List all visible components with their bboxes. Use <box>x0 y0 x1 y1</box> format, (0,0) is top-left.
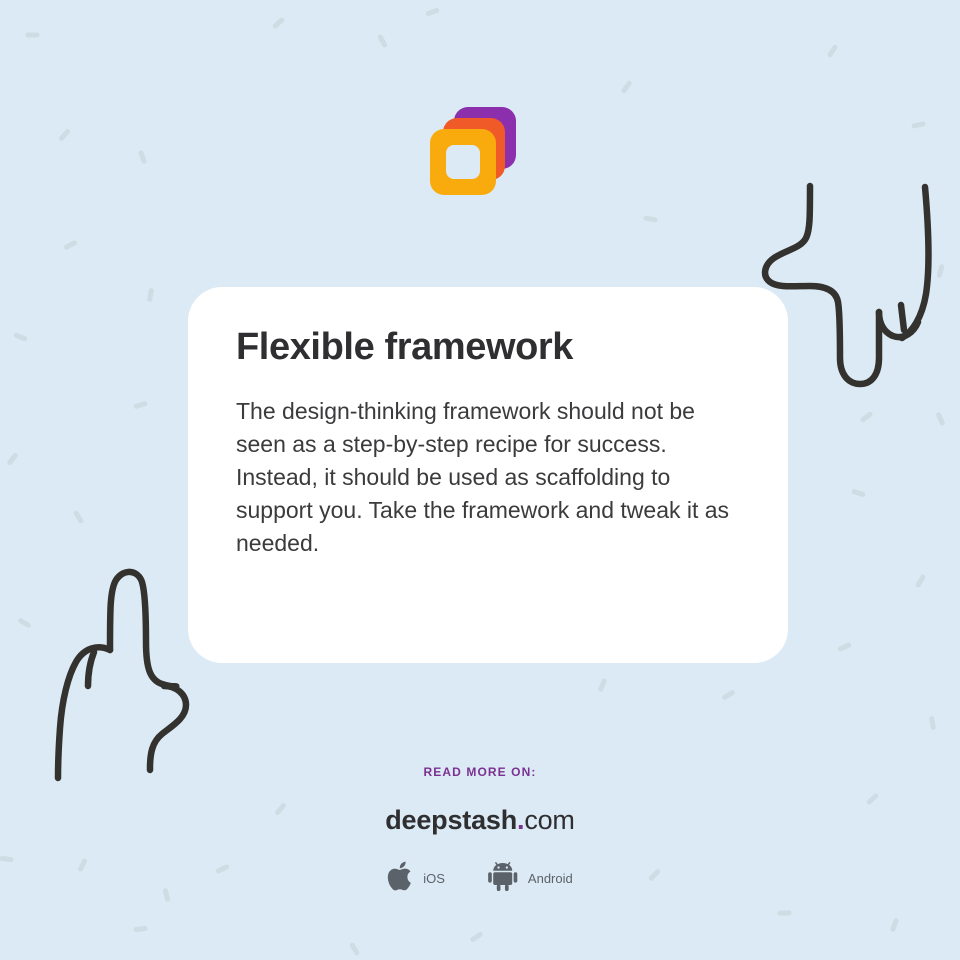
logo-front-square <box>430 129 496 195</box>
card-body-text: The design-thinking framework should not… <box>236 395 740 560</box>
confetti-particle <box>349 942 360 957</box>
ios-store-badge[interactable]: iOS <box>387 860 445 897</box>
confetti-particle <box>13 332 28 342</box>
ios-label: iOS <box>423 871 445 886</box>
confetti-particle <box>643 215 658 222</box>
content-card: Flexible framework The design-thinking f… <box>188 287 788 663</box>
confetti-particle <box>26 33 40 38</box>
confetti-particle <box>915 574 926 589</box>
confetti-particle <box>272 16 286 29</box>
confetti-particle <box>6 452 19 466</box>
confetti-particle <box>147 288 154 303</box>
confetti-particle <box>469 931 483 943</box>
confetti-particle <box>777 910 791 915</box>
confetti-particle <box>17 617 32 628</box>
confetti-particle <box>929 716 936 731</box>
android-label: Android <box>528 871 573 886</box>
deepstash-logo <box>430 107 516 195</box>
confetti-particle <box>133 926 147 932</box>
confetti-particle <box>851 488 866 497</box>
apple-icon <box>387 860 414 897</box>
confetti-particle <box>859 411 873 424</box>
confetti-particle <box>63 240 78 251</box>
confetti-particle <box>73 510 85 525</box>
app-store-badges: iOS <box>0 860 960 897</box>
confetti-particle <box>620 80 632 94</box>
confetti-particle <box>598 678 608 693</box>
footer: READ MORE ON: deepstash.com iOS <box>0 765 960 897</box>
brand-name: deepstash <box>385 805 517 835</box>
confetti-particle <box>133 401 148 410</box>
poster-canvas: Flexible framework The design-thinking f… <box>0 0 960 960</box>
confetti-particle <box>425 7 440 16</box>
confetti-particle <box>58 128 71 142</box>
android-store-badge[interactable]: Android <box>487 860 573 897</box>
confetti-particle <box>377 34 388 49</box>
brand-wordmark[interactable]: deepstash.com <box>0 805 960 836</box>
confetti-particle <box>721 689 736 701</box>
confetti-particle <box>935 412 945 427</box>
android-icon <box>487 860 519 897</box>
confetti-particle <box>827 44 839 58</box>
confetti-particle <box>890 918 899 933</box>
card-title: Flexible framework <box>236 327 740 369</box>
confetti-particle <box>837 642 852 652</box>
confetti-particle <box>138 150 147 165</box>
brand-tld: com <box>524 805 574 835</box>
read-more-label: READ MORE ON: <box>0 765 960 779</box>
confetti-particle <box>936 264 945 279</box>
logo-inner-hole <box>446 145 480 179</box>
confetti-particle <box>911 121 926 129</box>
